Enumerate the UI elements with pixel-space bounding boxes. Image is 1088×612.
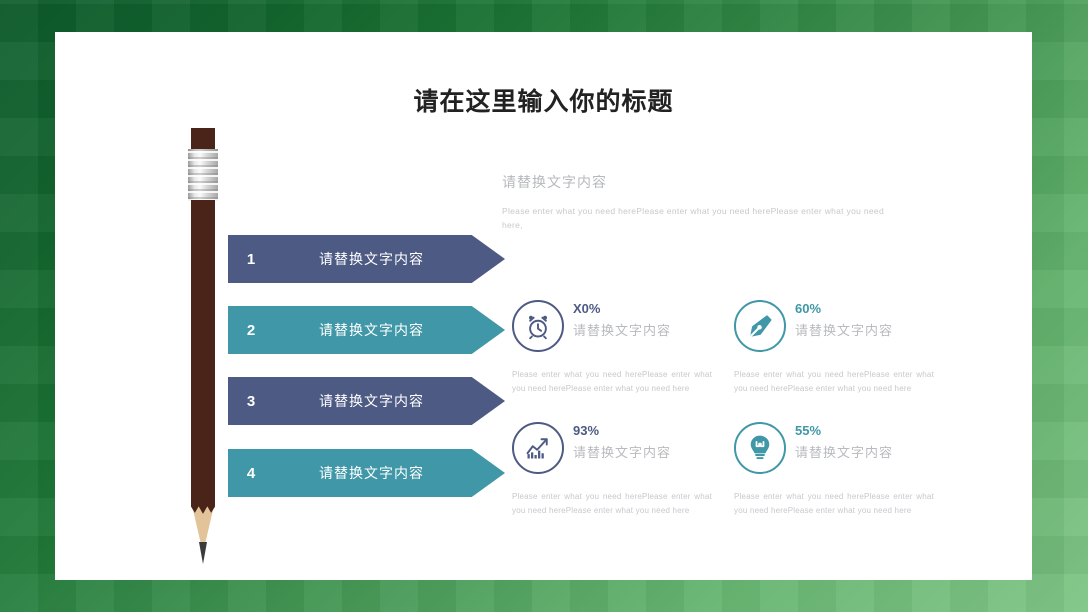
stat-label-1: 请替换文字内容 [573, 320, 671, 339]
stat-body-1: Please enter what you need herePlease en… [512, 368, 712, 396]
stat-label-4: 请替换文字内容 [795, 442, 893, 461]
stat-header-3: 93% 请替换文字内容 [512, 422, 734, 480]
step-arrow-1[interactable]: 1 请替换文字内容 [228, 235, 505, 283]
pencil-ferrule [188, 149, 218, 201]
lead-body: Please enter what you need herePlease en… [502, 204, 884, 232]
step-label-1: 请替换文字内容 [274, 249, 505, 269]
stat-label-2: 请替换文字内容 [795, 320, 893, 339]
pencil-eraser-cap [191, 128, 215, 150]
step-arrow-4[interactable]: 4 请替换文字内容 [228, 449, 505, 497]
step-label-2: 请替换文字内容 [274, 320, 505, 340]
stat-percent-3: 93% [573, 424, 671, 438]
stat-header-4: 55% 请替换文字内容 [734, 422, 956, 480]
lightbulb-icon [734, 422, 786, 474]
stat-card-2[interactable]: 60% 请替换文字内容 Please enter what you need h… [734, 300, 956, 396]
step-arrow-3[interactable]: 3 请替换文字内容 [228, 377, 505, 425]
alarm-clock-icon [512, 300, 564, 352]
step-arrow-2[interactable]: 2 请替换文字内容 [228, 306, 505, 354]
stat-percent-2: 60% [795, 302, 893, 316]
stat-card-1[interactable]: X0% 请替换文字内容 Please enter what you need h… [512, 300, 734, 396]
lead-heading: 请替换文字内容 [502, 172, 972, 192]
stat-text-1: X0% 请替换文字内容 [564, 300, 671, 339]
stat-percent-1: X0% [573, 302, 671, 316]
step-label-3: 请替换文字内容 [274, 391, 505, 411]
stat-card-3[interactable]: 93% 请替换文字内容 Please enter what you need h… [512, 422, 734, 518]
stat-body-2: Please enter what you need herePlease en… [734, 368, 934, 396]
stat-header-2: 60% 请替换文字内容 [734, 300, 956, 358]
pen-nib-icon [734, 300, 786, 352]
lead-block: 请替换文字内容 Please enter what you need hereP… [502, 172, 972, 232]
step-number-1: 1 [228, 251, 274, 268]
stat-percent-4: 55% [795, 424, 893, 438]
stat-body-4: Please enter what you need herePlease en… [734, 490, 934, 518]
pencil-graphite-tip [199, 542, 207, 564]
slide-card: 请在这里输入你的标题 1 请替换文字内容 2 请替换文字内容 3 请替换文字内容… [55, 32, 1032, 580]
stat-card-4[interactable]: 55% 请替换文字内容 Please enter what you need h… [734, 422, 956, 518]
stat-body-3: Please enter what you need herePlease en… [512, 490, 712, 518]
growth-chart-icon [512, 422, 564, 474]
stat-label-3: 请替换文字内容 [573, 442, 671, 461]
page-title: 请在这里输入你的标题 [55, 82, 1032, 118]
stat-text-3: 93% 请替换文字内容 [564, 422, 671, 461]
step-number-3: 3 [228, 393, 274, 410]
step-number-2: 2 [228, 322, 274, 339]
stat-text-2: 60% 请替换文字内容 [786, 300, 893, 339]
pencil-graphic [173, 128, 233, 558]
step-number-4: 4 [228, 465, 274, 482]
pencil-body [191, 200, 215, 505]
stat-text-4: 55% 请替换文字内容 [786, 422, 893, 461]
step-label-4: 请替换文字内容 [274, 463, 505, 483]
stat-header-1: X0% 请替换文字内容 [512, 300, 734, 358]
slide-background: 请在这里输入你的标题 1 请替换文字内容 2 请替换文字内容 3 请替换文字内容… [0, 0, 1088, 612]
